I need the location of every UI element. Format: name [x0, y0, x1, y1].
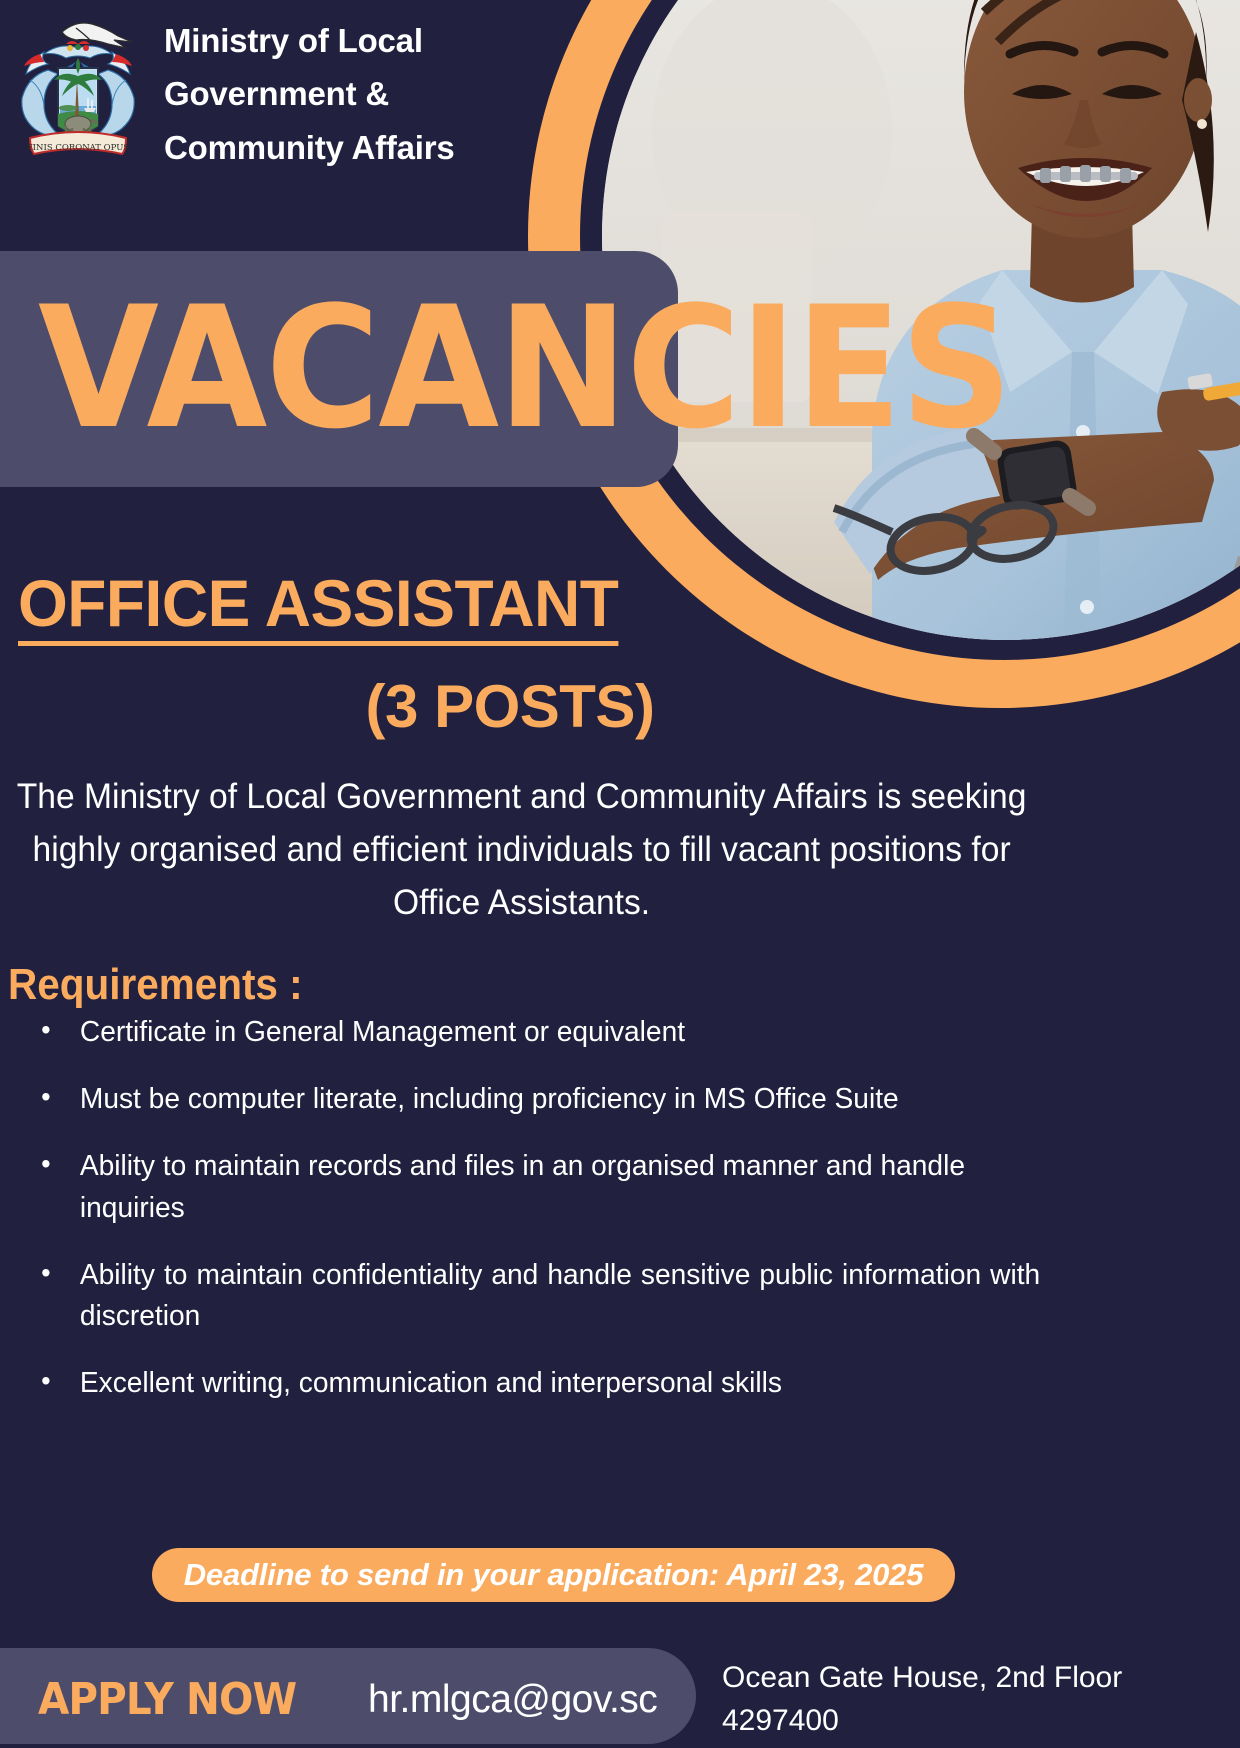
deadline-badge: Deadline to send in your application: Ap… — [152, 1548, 955, 1602]
vacancies-title: VACANCIES — [38, 303, 1011, 434]
requirement-item: Must be computer literate, including pro… — [12, 1079, 1040, 1120]
job-posts-count: (3 POSTS) — [0, 672, 1020, 741]
apply-now-label[interactable]: APPLY NOW — [38, 1674, 296, 1725]
requirement-item: Ability to maintain confidentiality and … — [12, 1255, 1040, 1337]
requirements-list: Certificate in General Management or equ… — [12, 1012, 1072, 1430]
requirements-heading: Requirements : — [8, 960, 303, 1010]
seychelles-coat-of-arms-icon: FINIS CORONAT OPUS — [14, 14, 142, 174]
job-title: OFFICE ASSISTANT — [18, 570, 618, 646]
poster-header: FINIS CORONAT OPUS Ministry of Local Gov… — [0, 0, 455, 174]
contact-address: Ocean Gate House, 2nd Floor 4297400 — [722, 1657, 1122, 1742]
vacancies-banner: VACANCIES — [0, 251, 678, 487]
job-title-wrapper: OFFICE ASSISTANT — [18, 570, 637, 646]
ministry-name: Ministry of Local Government & Community… — [164, 14, 455, 174]
crest-motto-text: FINIS CORONAT OPUS — [27, 143, 130, 153]
address-line-2: 4297400 — [722, 1700, 1122, 1743]
contact-email[interactable]: hr.mlgca@gov.sc — [368, 1678, 657, 1722]
requirement-item: Excellent writing, communication and int… — [12, 1363, 1040, 1404]
address-line-1: Ocean Gate House, 2nd Floor — [722, 1657, 1122, 1700]
vacancy-poster: FINIS CORONAT OPUS Ministry of Local Gov… — [0, 0, 1240, 1748]
requirement-item: Certificate in General Management or equ… — [12, 1012, 1040, 1053]
job-intro-paragraph: The Ministry of Local Government and Com… — [8, 770, 1035, 930]
requirement-item: Ability to maintain records and files in… — [12, 1146, 1040, 1228]
